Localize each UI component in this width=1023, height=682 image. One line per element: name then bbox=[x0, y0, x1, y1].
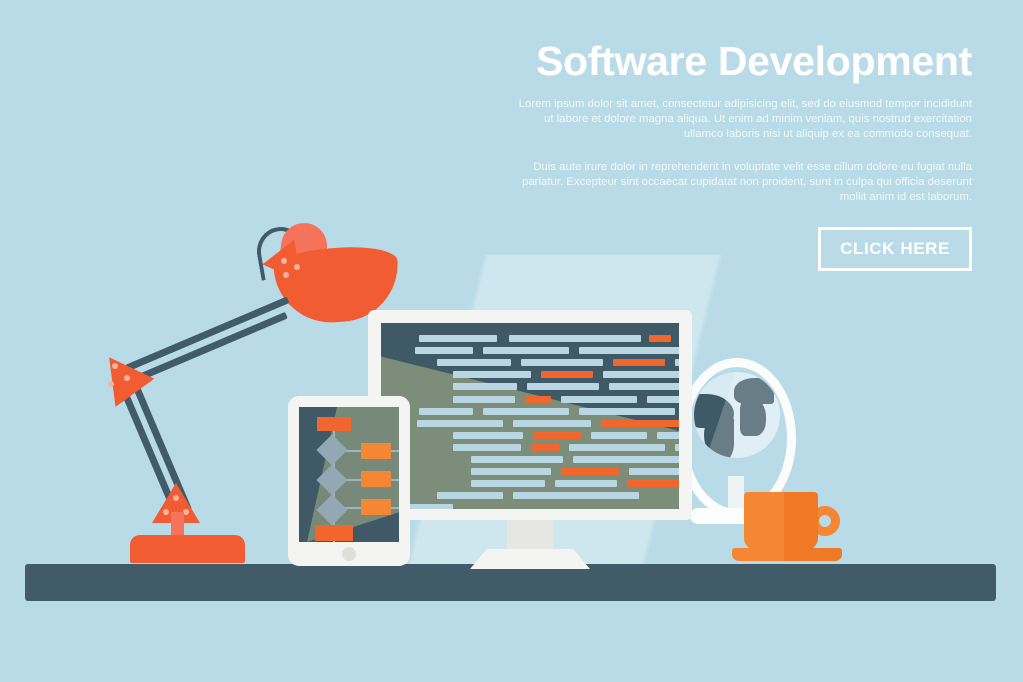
code-token bbox=[561, 396, 637, 403]
code-token bbox=[513, 420, 591, 427]
flowchart-connector bbox=[391, 450, 399, 452]
code-token bbox=[415, 347, 473, 354]
code-token bbox=[419, 408, 473, 415]
flowchart-connector bbox=[391, 479, 399, 481]
hero-paragraph-1: Lorem ipsum dolor sit amet, consectetur … bbox=[512, 97, 972, 143]
code-token bbox=[675, 444, 679, 451]
code-token bbox=[629, 468, 679, 475]
code-token bbox=[579, 408, 675, 415]
code-token-highlight bbox=[561, 468, 619, 475]
lamp-upper-arm-2 bbox=[129, 312, 288, 385]
cup-saucer-shadow bbox=[784, 548, 842, 561]
code-token bbox=[555, 480, 617, 487]
lamp-upper-arm bbox=[125, 297, 290, 372]
code-token bbox=[573, 456, 679, 463]
desktop-monitor bbox=[368, 310, 692, 520]
code-token-highlight bbox=[533, 432, 581, 439]
tablet-home-button[interactable] bbox=[342, 547, 356, 561]
monitor-screen bbox=[381, 323, 679, 509]
flowchart-process-box bbox=[315, 525, 353, 541]
code-token bbox=[471, 456, 563, 463]
code-token-highlight bbox=[613, 359, 665, 366]
flowchart-process-box bbox=[361, 471, 391, 487]
code-token-highlight bbox=[649, 335, 671, 342]
code-token bbox=[591, 432, 647, 439]
page-title: Software Development bbox=[512, 40, 972, 83]
code-token bbox=[417, 420, 503, 427]
code-token bbox=[437, 359, 511, 366]
illustration-stage: Software Development Lorem ipsum dolor s… bbox=[0, 0, 1023, 682]
tablet-device bbox=[288, 396, 410, 566]
coffee-cup bbox=[740, 486, 850, 566]
code-token bbox=[483, 408, 569, 415]
code-token bbox=[569, 444, 665, 451]
cup-body-shadow bbox=[784, 492, 818, 550]
code-token bbox=[609, 383, 679, 390]
lamp-joint-top bbox=[270, 248, 310, 288]
code-token-highlight bbox=[525, 396, 551, 403]
flowchart-process-box bbox=[361, 499, 391, 515]
code-token bbox=[527, 383, 599, 390]
code-token bbox=[453, 444, 521, 451]
monitor-stand-neck bbox=[507, 520, 553, 554]
lamp-base bbox=[130, 535, 245, 563]
flowchart-process-box bbox=[361, 443, 391, 459]
code-token bbox=[521, 359, 603, 366]
flowchart-connector bbox=[333, 541, 335, 542]
code-token bbox=[453, 432, 523, 439]
monitor-stand-base bbox=[470, 549, 590, 569]
code-token bbox=[453, 396, 515, 403]
flowchart-process-box bbox=[317, 417, 351, 431]
code-token bbox=[675, 359, 679, 366]
code-token bbox=[437, 492, 503, 499]
code-token bbox=[657, 432, 679, 439]
code-token bbox=[471, 480, 545, 487]
code-token bbox=[579, 347, 679, 354]
code-token bbox=[509, 335, 641, 342]
code-token-highlight bbox=[541, 371, 593, 378]
code-token bbox=[647, 396, 679, 403]
click-here-button[interactable]: CLICK HERE bbox=[818, 227, 972, 271]
code-token bbox=[453, 371, 531, 378]
hero-paragraph-2: Duis aute irure dolor in reprehenderit i… bbox=[512, 160, 972, 206]
code-token bbox=[603, 371, 679, 378]
code-token-highlight bbox=[627, 480, 679, 487]
code-token-highlight bbox=[601, 420, 679, 427]
code-token bbox=[513, 492, 639, 499]
code-token bbox=[471, 468, 551, 475]
code-token bbox=[419, 335, 497, 342]
lamp-joint-middle bbox=[98, 353, 146, 401]
code-token bbox=[483, 347, 569, 354]
hero-text-block: Software Development Lorem ipsum dolor s… bbox=[512, 40, 972, 271]
code-token-highlight bbox=[531, 444, 559, 451]
code-token bbox=[453, 383, 517, 390]
flowchart-connector bbox=[391, 507, 399, 509]
tablet-screen bbox=[299, 407, 399, 542]
